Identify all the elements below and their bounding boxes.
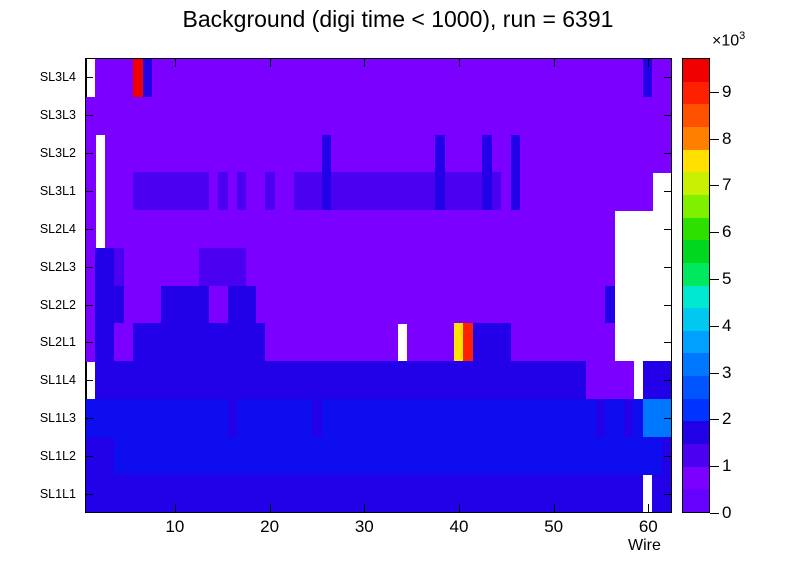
heatmap-cell	[662, 59, 672, 97]
y-axis-tick-right	[664, 191, 672, 192]
color-scale-band	[683, 376, 709, 399]
color-scale-band	[683, 489, 709, 512]
color-scale-band	[683, 263, 709, 286]
color-scale-tick-label: 5	[722, 269, 731, 289]
heatmap-cell	[633, 474, 643, 512]
y-axis-label: SL3L2	[14, 146, 76, 160]
y-axis-tick-right	[664, 305, 672, 306]
heatmap-plot-area[interactable]	[85, 58, 672, 513]
color-scale-tick	[710, 466, 719, 467]
x-axis-major-tick-top	[648, 58, 649, 67]
x-axis-label: 10	[165, 517, 184, 537]
color-scale-tick-label: 2	[722, 409, 731, 429]
y-axis-tick	[85, 380, 93, 381]
color-scale-tick-label: 6	[722, 222, 731, 242]
color-scale-tick-label: 3	[722, 363, 731, 383]
color-scale-tick	[710, 232, 719, 233]
x-axis-major-tick	[364, 504, 365, 513]
heatmap-cell	[624, 361, 634, 399]
y-axis-tick-right	[664, 267, 672, 268]
y-axis-tick-right	[664, 77, 672, 78]
y-axis-label: SL1L4	[14, 373, 76, 387]
color-scale-band	[683, 104, 709, 127]
y-axis-tick	[85, 267, 93, 268]
y-axis-label: SL1L2	[14, 449, 76, 463]
heatmap-cell	[643, 172, 653, 210]
x-axis-label: 30	[355, 517, 374, 537]
x-axis-major-tick	[648, 504, 649, 513]
color-scale-tick	[710, 92, 719, 93]
y-axis-tick	[85, 305, 93, 306]
y-axis-tick-right	[664, 456, 672, 457]
y-axis-label: SL1L1	[14, 487, 76, 501]
x-axis-label: 60	[639, 517, 658, 537]
heatmap-cells	[86, 59, 671, 512]
color-scale-tick-label: 1	[722, 456, 731, 476]
y-axis-tick	[85, 191, 93, 192]
y-axis-tick-right	[664, 494, 672, 495]
y-axis-tick-right	[664, 153, 672, 154]
color-scale-band	[683, 172, 709, 195]
x-axis-label: 50	[544, 517, 563, 537]
color-scale-band	[683, 399, 709, 422]
x-axis-title: Wire	[628, 537, 661, 555]
color-scale-band	[683, 444, 709, 467]
color-scale-band	[683, 240, 709, 263]
y-axis-label: SL2L4	[14, 222, 76, 236]
color-scale-band	[683, 127, 709, 150]
heatmap-cell	[388, 323, 398, 361]
y-axis-label: SL1L3	[14, 411, 76, 425]
color-scale-band	[683, 59, 709, 82]
x-axis-label: 40	[450, 517, 469, 537]
x-axis-major-tick-top	[554, 58, 555, 67]
y-axis-tick-right	[664, 115, 672, 116]
color-scale-tick	[710, 419, 719, 420]
color-scale-band	[683, 218, 709, 241]
y-axis-label: SL3L3	[14, 108, 76, 122]
page-title: Background (digi time < 1000), run = 639…	[0, 6, 796, 33]
x-axis-major-tick-top	[459, 58, 460, 67]
x-axis-label: 20	[260, 517, 279, 537]
color-scale-band	[683, 421, 709, 444]
y-axis-tick	[85, 456, 93, 457]
heatmap-cell	[605, 210, 615, 248]
color-scale-band	[683, 467, 709, 490]
x-axis-major-tick-top	[270, 58, 271, 67]
color-scale-tick	[710, 513, 719, 514]
color-scale-tick-label: 9	[722, 82, 731, 102]
color-scale-band	[683, 195, 709, 218]
color-scale-tick-label: 4	[722, 316, 731, 336]
x-axis-major-tick	[459, 504, 460, 513]
heatmap-cell	[605, 323, 615, 361]
color-scale-tick-label: 7	[722, 175, 731, 195]
heatmap-cell	[662, 97, 672, 135]
y-axis-tick-right	[664, 229, 672, 230]
root-canvas: Background (digi time < 1000), run = 639…	[0, 0, 796, 572]
color-scale-band	[683, 353, 709, 376]
y-axis-label: SL3L4	[14, 70, 76, 84]
y-axis-tick	[85, 115, 93, 116]
y-axis-tick	[85, 77, 93, 78]
y-axis-label: SL2L2	[14, 298, 76, 312]
color-scale-tick	[710, 373, 719, 374]
y-axis-tick	[85, 229, 93, 230]
y-axis-tick-right	[664, 380, 672, 381]
x-axis-major-tick-top	[175, 58, 176, 67]
color-scale-band	[683, 286, 709, 309]
y-axis-label: SL2L3	[14, 260, 76, 274]
y-axis-tick	[85, 342, 93, 343]
x-axis-major-tick-top	[364, 58, 365, 67]
color-scale-bar[interactable]	[682, 58, 710, 513]
x-axis-major-tick	[270, 504, 271, 513]
color-scale-tick-label: 8	[722, 129, 731, 149]
x-axis-major-tick	[175, 504, 176, 513]
color-scale-band	[683, 82, 709, 105]
heatmap-cell	[605, 248, 615, 286]
color-scale-tick	[710, 326, 719, 327]
color-scale-tick-label: 0	[722, 503, 731, 523]
y-axis-tick	[85, 153, 93, 154]
color-scale-exponent: ×103	[712, 30, 745, 50]
color-scale-tick	[710, 139, 719, 140]
color-scale-tick	[710, 185, 719, 186]
y-axis-tick-right	[664, 342, 672, 343]
y-axis-label: SL2L1	[14, 335, 76, 349]
color-scale-tick	[710, 279, 719, 280]
x-axis-major-tick	[554, 504, 555, 513]
y-axis-label: SL3L1	[14, 184, 76, 198]
y-axis-tick	[85, 418, 93, 419]
color-scale-band	[683, 308, 709, 331]
y-axis-tick	[85, 494, 93, 495]
heatmap-cell	[605, 286, 615, 324]
color-scale-band	[683, 331, 709, 354]
y-axis-tick-right	[664, 418, 672, 419]
color-scale-band	[683, 150, 709, 173]
